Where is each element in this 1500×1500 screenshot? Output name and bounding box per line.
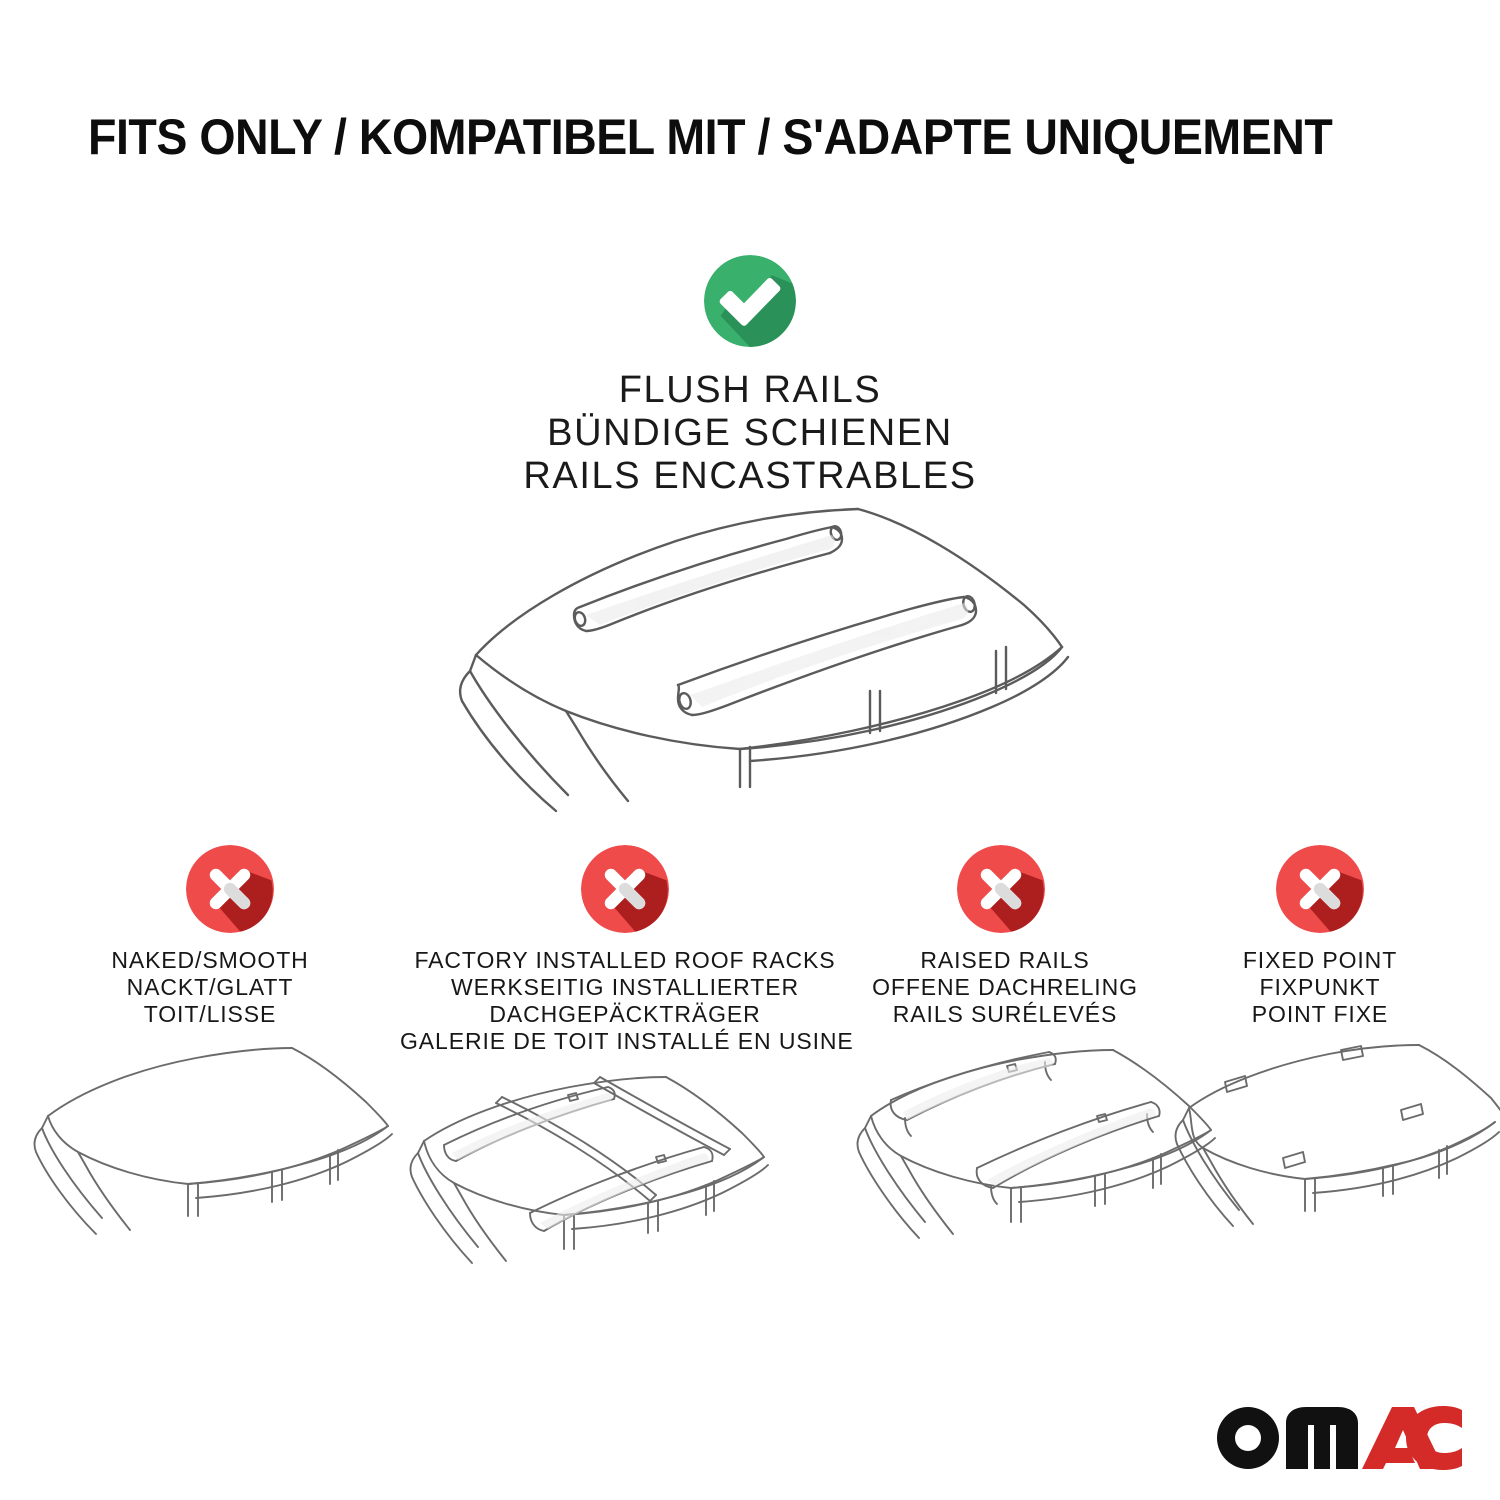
incompatible-item-raised-rails: RAISED RAILS OFFENE DACHRELING RAILS SUR…	[845, 845, 1165, 1278]
incompatible-labels: RAISED RAILS OFFENE DACHRELING RAILS SUR…	[845, 947, 1165, 1028]
label-en: FIXED POINT	[1165, 947, 1475, 974]
fitment-infographic: FITS ONLY / KOMPATIBEL MIT / S'ADAPTE UN…	[0, 0, 1500, 1500]
incompatible-labels: NAKED/SMOOTH NACKT/GLATT TOIT/LISSE	[20, 947, 400, 1028]
compatible-labels: FLUSH RAILS BÜNDIGE SCHIENEN RAILS ENCAS…	[0, 369, 1500, 498]
incompatible-labels: FACTORY INSTALLED ROOF RACKS WERKSEITIG …	[400, 947, 850, 1055]
label-en: RAISED RAILS	[845, 947, 1165, 974]
compatible-section: FLUSH RAILS BÜNDIGE SCHIENEN RAILS ENCAS…	[0, 255, 1500, 498]
incompatible-labels: FIXED POINT FIXPUNKT POINT FIXE	[1165, 947, 1475, 1028]
compatible-label-de: BÜNDIGE SCHIENEN	[0, 412, 1500, 455]
label-de: NACKT/GLATT	[20, 974, 400, 1001]
compatible-label-fr: RAILS ENCASTRABLES	[0, 455, 1500, 498]
omac-logo-letter-o	[1217, 1407, 1279, 1469]
cross-circle-icon	[581, 845, 669, 933]
label-de-2: DACHGEPÄCKTRÄGER	[400, 1001, 850, 1028]
label-en: NAKED/SMOOTH	[20, 947, 400, 974]
cross-circle-icon	[957, 845, 1045, 933]
label-fr: RAILS SURÉLEVÉS	[845, 1001, 1165, 1028]
car-roof-raised-rails-illustration	[845, 1038, 1165, 1278]
omac-logo	[1212, 1398, 1462, 1472]
car-roof-factory-racks-illustration	[400, 1065, 850, 1305]
label-de-1: WERKSEITIG INSTALLIERTER	[400, 974, 850, 1001]
incompatible-item-factory-racks: FACTORY INSTALLED ROOF RACKS WERKSEITIG …	[400, 845, 850, 1305]
label-fr: POINT FIXE	[1165, 1001, 1475, 1028]
label-fr: TOIT/LISSE	[20, 1001, 400, 1028]
page-title: FITS ONLY / KOMPATIBEL MIT / S'ADAPTE UN…	[88, 108, 1332, 166]
car-roof-fixed-point-illustration	[1165, 1038, 1475, 1278]
label-de: OFFENE DACHRELING	[845, 974, 1165, 1001]
cross-circle-icon	[1276, 845, 1364, 933]
incompatible-item-fixed-point: FIXED POINT FIXPUNKT POINT FIXE	[1165, 845, 1475, 1278]
label-de: FIXPUNKT	[1165, 974, 1475, 1001]
compatible-label-en: FLUSH RAILS	[0, 369, 1500, 412]
check-circle-icon	[704, 255, 796, 347]
car-roof-flush-rails-illustration	[440, 495, 1080, 815]
cross-circle-icon	[186, 845, 274, 933]
label-fr: GALERIE DE TOIT INSTALLÉ EN USINE	[400, 1028, 850, 1055]
incompatible-item-naked: NAKED/SMOOTH NACKT/GLATT TOIT/LISSE	[20, 845, 400, 1278]
label-en: FACTORY INSTALLED ROOF RACKS	[400, 947, 850, 974]
omac-logo-letter-m	[1286, 1407, 1358, 1469]
incompatible-section: NAKED/SMOOTH NACKT/GLATT TOIT/LISSE	[0, 845, 1500, 1315]
car-roof-naked-illustration	[20, 1038, 400, 1278]
